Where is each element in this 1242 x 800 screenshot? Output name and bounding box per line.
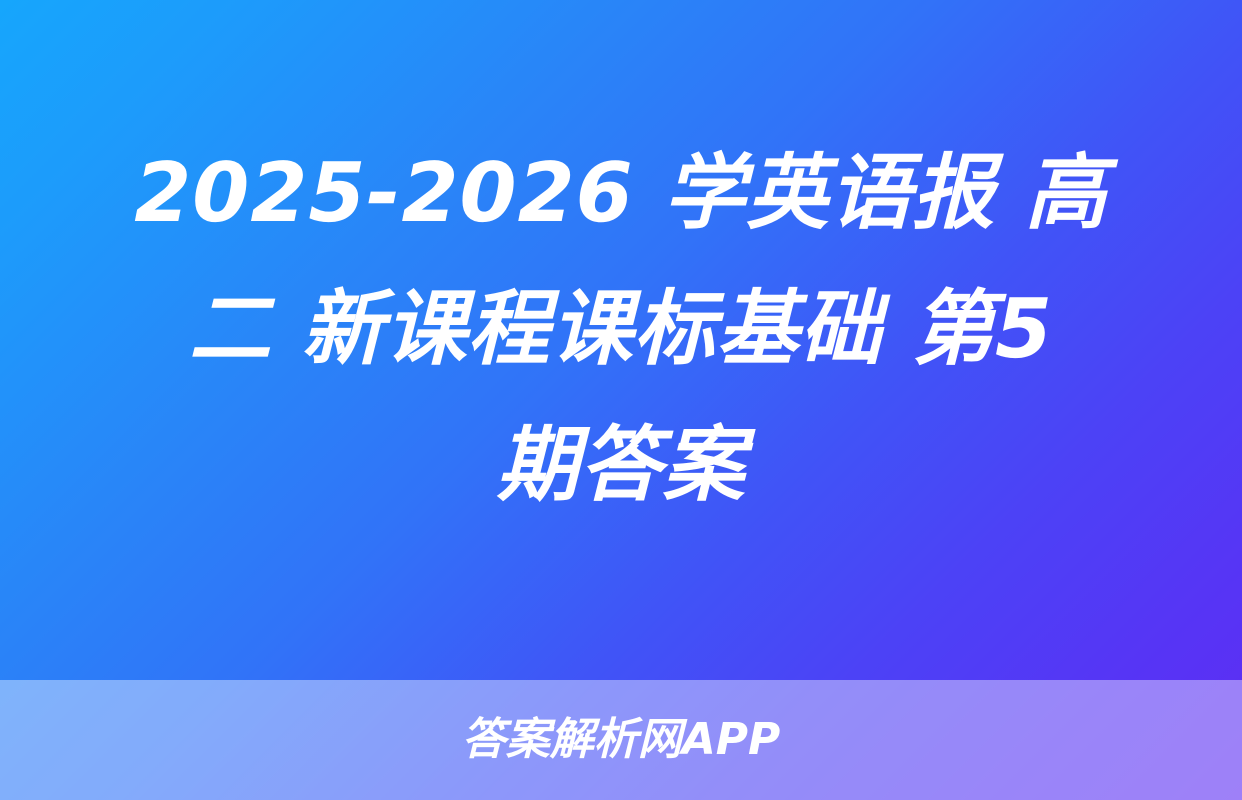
headline-block: 2025-2026 学英语报 高 二 新课程课标基础 第5 期答案: [0, 0, 1242, 680]
footer-brand-band: 答案解析网APP: [0, 680, 1242, 800]
poster-canvas: 2025-2026 学英语报 高 二 新课程课标基础 第5 期答案 答案解析网A…: [0, 0, 1242, 800]
app-brand-label: 答案解析网APP: [462, 718, 781, 762]
page-title: 2025-2026 学英语报 高 二 新课程课标基础 第5 期答案: [44, 126, 1198, 534]
